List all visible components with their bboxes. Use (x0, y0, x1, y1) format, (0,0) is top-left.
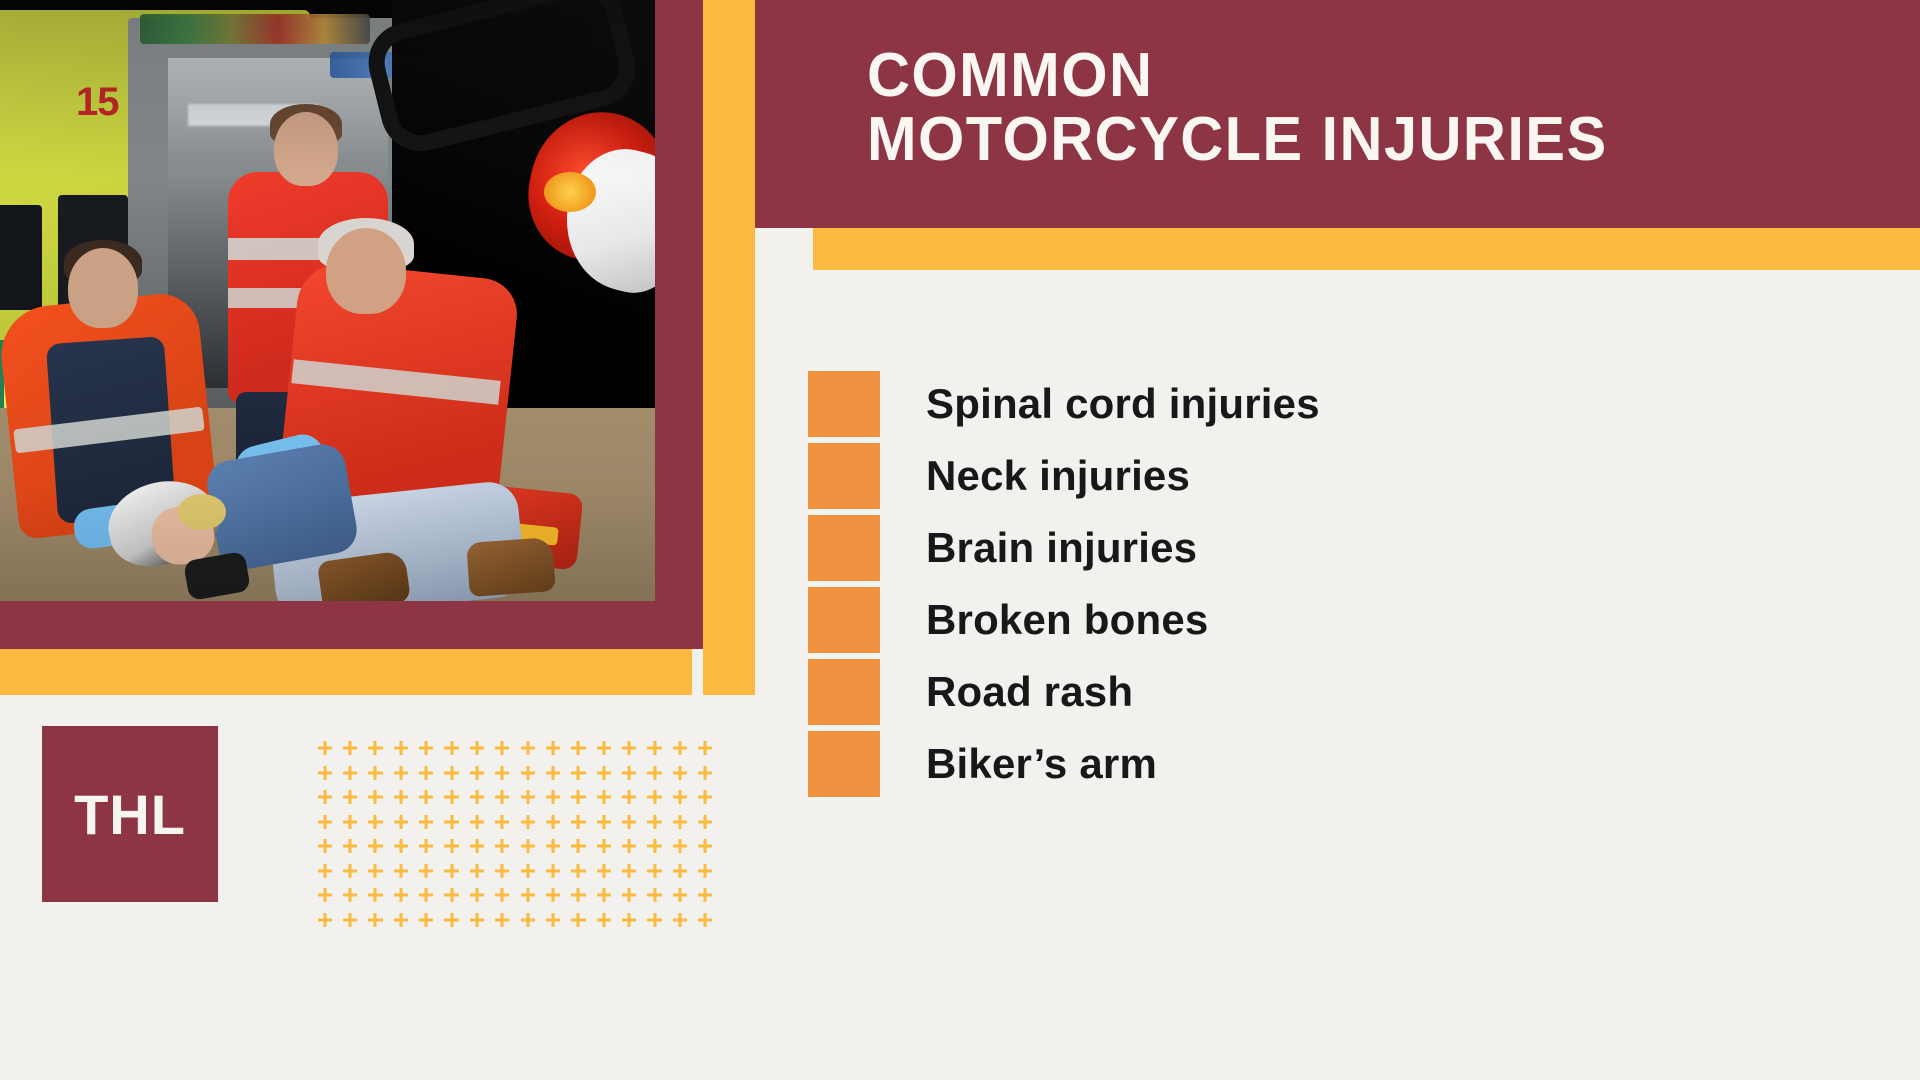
plus-icon (667, 736, 692, 761)
bullet-square-icon (808, 731, 880, 797)
plus-icon (464, 834, 489, 859)
plus-icon (693, 908, 718, 933)
plus-icon (566, 859, 591, 884)
plus-icon (591, 859, 616, 884)
plus-icon (642, 810, 667, 835)
plus-icon (566, 908, 591, 933)
thl-logo: THL (42, 726, 218, 902)
list-item: Neck injuries (808, 440, 1708, 512)
banner-yellow-underbar (813, 228, 1920, 270)
plus-icon (414, 761, 439, 786)
page-title: COMMON MOTORCYCLE INJURIES (867, 44, 1865, 173)
plus-icon (464, 785, 489, 810)
list-item-label: Brain injuries (926, 524, 1197, 572)
plus-icon (312, 785, 337, 810)
plus-icon (439, 785, 464, 810)
plus-icon (693, 810, 718, 835)
plus-icon (617, 810, 642, 835)
plus-icon (540, 736, 565, 761)
plus-icon (617, 785, 642, 810)
plus-icon (363, 736, 388, 761)
vertical-maroon-stripe (655, 0, 703, 649)
plus-icon (540, 859, 565, 884)
plus-icon (490, 908, 515, 933)
plus-icon (515, 834, 540, 859)
plus-icon (464, 761, 489, 786)
plus-icon (693, 761, 718, 786)
plus-icon (363, 761, 388, 786)
photo-frame-yellow-band (0, 649, 692, 695)
plus-icon (667, 883, 692, 908)
plus-icon (566, 883, 591, 908)
plus-icon (388, 883, 413, 908)
plus-icon (337, 785, 362, 810)
injury-list: Spinal cord injuries Neck injuries Brain… (808, 368, 1708, 800)
plus-icon (617, 908, 642, 933)
plus-icon (490, 785, 515, 810)
plus-icon (515, 859, 540, 884)
plus-icon (388, 908, 413, 933)
plus-icon (591, 883, 616, 908)
plus-icon (439, 834, 464, 859)
plus-icon (312, 810, 337, 835)
plus-icon (490, 883, 515, 908)
plus-icon (439, 908, 464, 933)
plus-icon (388, 834, 413, 859)
plus-icon (667, 810, 692, 835)
plus-icon (490, 810, 515, 835)
plus-icon (337, 859, 362, 884)
title-banner: COMMON MOTORCYCLE INJURIES (755, 0, 1920, 228)
list-item: Spinal cord injuries (808, 368, 1708, 440)
accident-photo: 15 (0, 0, 692, 680)
plus-icon (515, 810, 540, 835)
plus-icon (388, 810, 413, 835)
plus-pattern-decoration (312, 736, 718, 932)
plus-icon (591, 761, 616, 786)
plus-icon (693, 736, 718, 761)
plus-icon (566, 834, 591, 859)
plus-icon (414, 908, 439, 933)
plus-icon (515, 883, 540, 908)
plus-icon (642, 859, 667, 884)
plus-icon (414, 859, 439, 884)
plus-icon (566, 810, 591, 835)
list-item-label: Spinal cord injuries (926, 380, 1320, 428)
page-title-line-1: COMMON (867, 41, 1153, 110)
plus-icon (515, 761, 540, 786)
photo-frame-maroon-band (0, 601, 692, 649)
plus-icon (337, 908, 362, 933)
plus-icon (693, 785, 718, 810)
plus-icon (642, 908, 667, 933)
thl-logo-text: THL (74, 782, 186, 847)
plus-icon (464, 859, 489, 884)
plus-icon (464, 736, 489, 761)
plus-icon (388, 859, 413, 884)
plus-icon (693, 859, 718, 884)
plus-icon (540, 761, 565, 786)
list-item: Road rash (808, 656, 1708, 728)
plus-icon (667, 908, 692, 933)
plus-icon (337, 761, 362, 786)
plus-icon (439, 810, 464, 835)
plus-icon (414, 736, 439, 761)
list-item: Biker’s arm (808, 728, 1708, 800)
plus-icon (312, 834, 337, 859)
plus-icon (363, 834, 388, 859)
plus-icon (617, 834, 642, 859)
plus-icon (515, 785, 540, 810)
plus-icon (540, 785, 565, 810)
plus-icon (515, 736, 540, 761)
plus-icon (540, 908, 565, 933)
plus-icon (414, 810, 439, 835)
plus-icon (617, 859, 642, 884)
accident-photo-image: 15 (0, 0, 692, 680)
plus-icon (363, 908, 388, 933)
plus-icon (642, 883, 667, 908)
plus-icon (363, 810, 388, 835)
list-item: Brain injuries (808, 512, 1708, 584)
plus-icon (312, 736, 337, 761)
plus-icon (591, 908, 616, 933)
list-item-label: Broken bones (926, 596, 1208, 644)
plus-icon (591, 785, 616, 810)
bullet-square-icon (808, 443, 880, 509)
plus-icon (515, 908, 540, 933)
plus-icon (363, 883, 388, 908)
plus-icon (490, 834, 515, 859)
plus-icon (642, 785, 667, 810)
plus-icon (312, 908, 337, 933)
photo-vignette (0, 0, 692, 680)
plus-icon (617, 883, 642, 908)
plus-icon (490, 736, 515, 761)
plus-icon (414, 785, 439, 810)
plus-icon (566, 761, 591, 786)
plus-icon (337, 834, 362, 859)
plus-icon (591, 810, 616, 835)
plus-icon (540, 883, 565, 908)
list-item-label: Biker’s arm (926, 740, 1157, 788)
plus-icon (312, 859, 337, 884)
plus-icon (439, 859, 464, 884)
plus-icon (312, 761, 337, 786)
list-item-label: Neck injuries (926, 452, 1190, 500)
plus-icon (414, 834, 439, 859)
plus-icon (642, 834, 667, 859)
plus-icon (566, 736, 591, 761)
plus-icon (693, 834, 718, 859)
bullet-square-icon (808, 515, 880, 581)
plus-icon (667, 761, 692, 786)
bullet-square-icon (808, 371, 880, 437)
plus-icon (414, 883, 439, 908)
plus-icon (667, 785, 692, 810)
plus-icon (490, 859, 515, 884)
plus-icon (566, 785, 591, 810)
plus-icon (490, 761, 515, 786)
plus-icon (693, 883, 718, 908)
plus-icon (388, 785, 413, 810)
plus-icon (591, 736, 616, 761)
plus-icon (540, 810, 565, 835)
plus-icon (642, 736, 667, 761)
plus-icon (388, 736, 413, 761)
plus-icon (464, 883, 489, 908)
plus-icon (312, 883, 337, 908)
plus-icon (540, 834, 565, 859)
plus-icon (591, 834, 616, 859)
plus-icon (337, 883, 362, 908)
vertical-yellow-stripe (703, 0, 755, 695)
bullet-square-icon (808, 659, 880, 725)
plus-icon (617, 761, 642, 786)
plus-icon (439, 883, 464, 908)
page-title-line-2: MOTORCYCLE INJURIES (867, 108, 1865, 172)
plus-icon (464, 908, 489, 933)
plus-icon (617, 736, 642, 761)
list-item-label: Road rash (926, 668, 1133, 716)
plus-icon (667, 859, 692, 884)
plus-icon (439, 761, 464, 786)
plus-icon (667, 834, 692, 859)
plus-icon (464, 810, 489, 835)
bullet-square-icon (808, 587, 880, 653)
plus-icon (439, 736, 464, 761)
plus-icon (337, 810, 362, 835)
plus-icon (642, 761, 667, 786)
plus-icon (388, 761, 413, 786)
plus-icon (363, 785, 388, 810)
plus-icon (363, 859, 388, 884)
list-item: Broken bones (808, 584, 1708, 656)
plus-icon (337, 736, 362, 761)
